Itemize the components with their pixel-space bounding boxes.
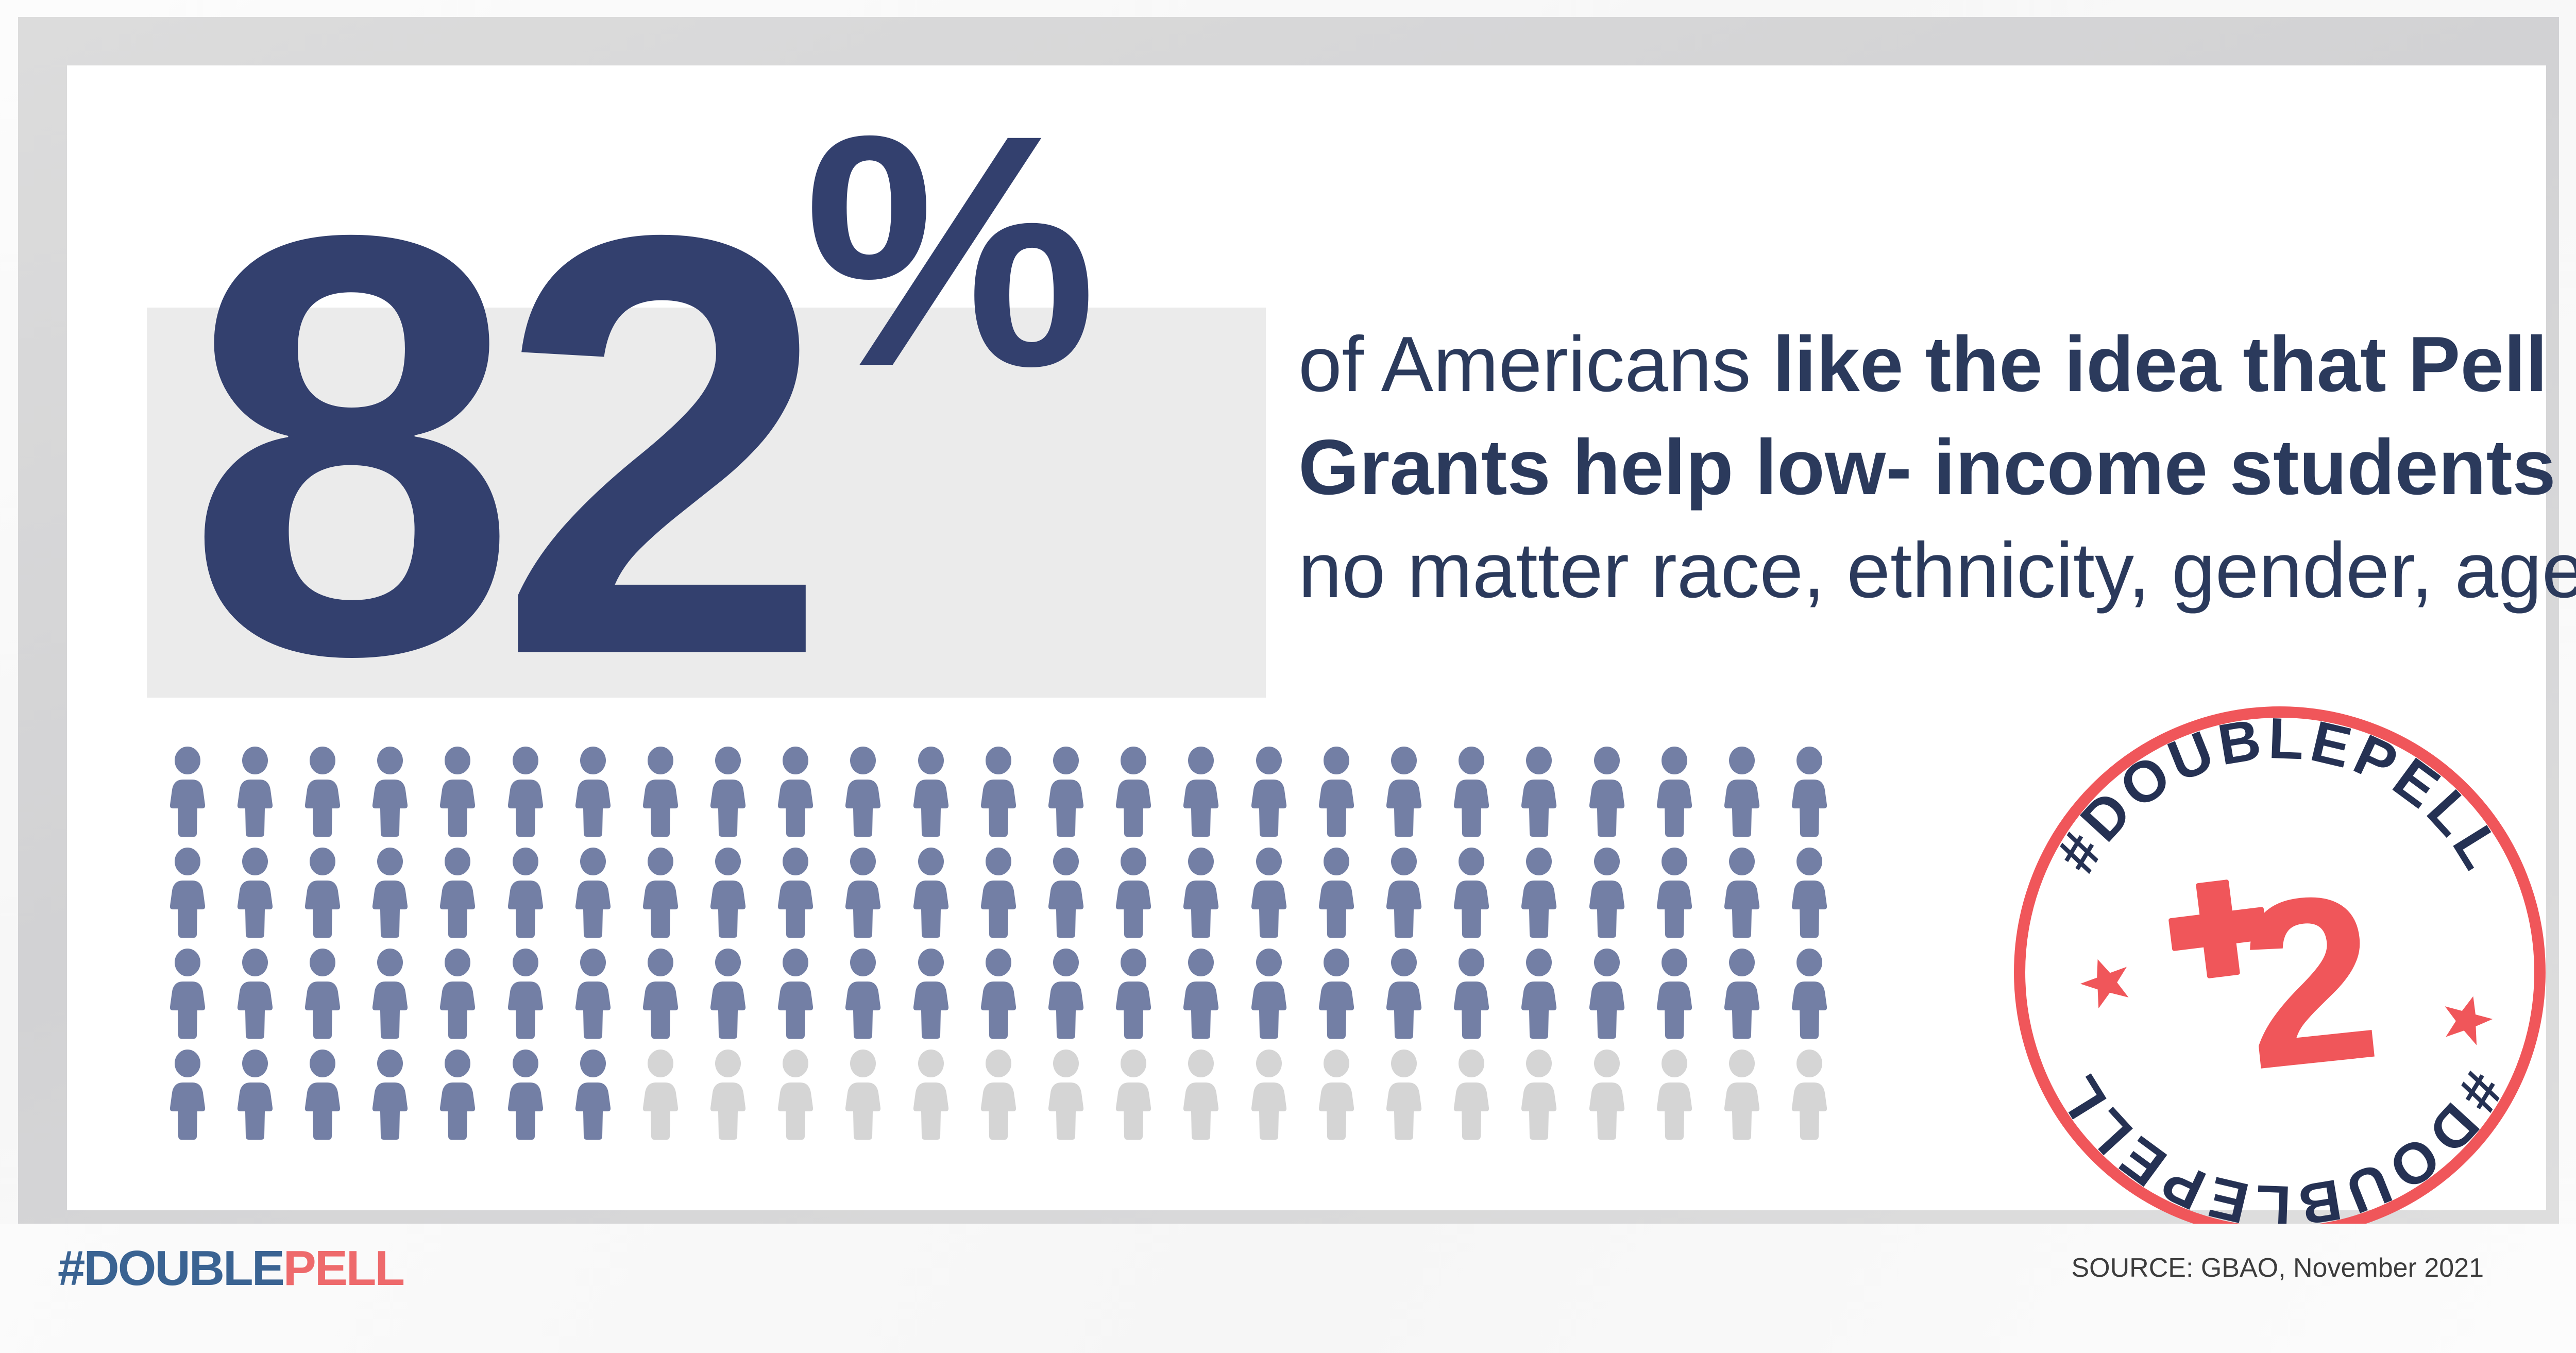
person-icon-empty — [762, 1047, 829, 1148]
person-icon — [1451, 747, 1492, 837]
poster-frame: 82% of Americans like the idea that Pell… — [18, 17, 2559, 1224]
person-icon — [234, 1050, 276, 1140]
person-icon — [707, 1050, 749, 1140]
person-icon — [978, 848, 1019, 938]
person-icon-filled — [424, 1047, 492, 1148]
headline-copy: of Americans like the idea that Pell Gra… — [1298, 313, 2499, 622]
person-icon-filled — [1776, 946, 1843, 1047]
person-icon — [234, 747, 276, 837]
person-icon-filled — [492, 1047, 559, 1148]
badge-star-left — [2074, 951, 2137, 1011]
person-icon-filled — [221, 845, 289, 946]
person-icon — [707, 747, 749, 837]
person-icon — [1180, 848, 1222, 938]
person-icon-filled — [1370, 845, 1437, 946]
person-icon — [234, 848, 276, 938]
person-icon — [842, 848, 884, 938]
person-icon — [167, 747, 208, 837]
person-icon-filled — [897, 946, 964, 1047]
person-icon-empty — [1167, 1047, 1235, 1148]
person-icon — [1721, 949, 1762, 1039]
person-icon — [369, 1050, 411, 1140]
person-icon — [572, 1050, 614, 1140]
person-icon-filled — [154, 1047, 221, 1148]
person-icon-filled — [357, 745, 424, 845]
person-icon-filled — [1708, 745, 1775, 845]
person-icon-filled — [289, 946, 356, 1047]
person-icon-filled — [289, 845, 356, 946]
person-icon-filled — [762, 745, 829, 845]
person-icon-empty — [1235, 1047, 1302, 1148]
person-icon — [842, 747, 884, 837]
person-icon — [1248, 848, 1290, 938]
person-icon-empty — [1776, 1047, 1843, 1148]
person-icon — [1518, 1050, 1560, 1140]
footer-logo-red: PELL — [283, 1241, 403, 1296]
person-icon-filled — [559, 745, 626, 845]
person-icon-filled — [1302, 845, 1370, 946]
person-icon-filled — [492, 946, 559, 1047]
person-icon — [1383, 848, 1425, 938]
person-icon — [369, 747, 411, 837]
person-icon-filled — [1100, 946, 1167, 1047]
person-icon — [1383, 949, 1425, 1039]
person-icon — [505, 747, 546, 837]
person-icon-filled — [897, 745, 964, 845]
person-icon — [978, 949, 1019, 1039]
person-icon-empty — [1302, 1047, 1370, 1148]
person-icon — [1113, 747, 1154, 837]
person-icon-filled — [1235, 946, 1302, 1047]
person-icon-filled — [1100, 845, 1167, 946]
person-icon — [1180, 949, 1222, 1039]
person-icon — [910, 747, 952, 837]
person-icon-filled — [1776, 845, 1843, 946]
person-icon-filled — [1370, 946, 1437, 1047]
person-icon-empty — [626, 1047, 694, 1148]
person-icon — [1316, 747, 1357, 837]
person-icon-filled — [154, 845, 221, 946]
person-icon — [167, 949, 208, 1039]
person-icon-filled — [1032, 946, 1099, 1047]
person-icon — [505, 848, 546, 938]
footer-bar: #DOUBLEPELL SOURCE: GBAO, November 2021 — [0, 1224, 2576, 1353]
person-icon — [505, 1050, 546, 1140]
person-icon-filled — [1573, 845, 1640, 946]
person-icon-filled — [221, 1047, 289, 1148]
person-icon-filled — [357, 946, 424, 1047]
person-icon — [1721, 747, 1762, 837]
person-icon — [167, 848, 208, 938]
person-icon-filled — [424, 845, 492, 946]
person-icon-filled — [897, 845, 964, 946]
person-icon — [775, 747, 816, 837]
person-icon — [1113, 1050, 1154, 1140]
person-icon — [910, 848, 952, 938]
person-icon — [1518, 747, 1560, 837]
person-icon-empty — [1505, 1047, 1573, 1148]
person-icon-empty — [694, 1047, 762, 1148]
person-icon-filled — [1640, 845, 1708, 946]
pictogram-row — [154, 845, 1849, 946]
person-icon-filled — [424, 745, 492, 845]
person-icon — [1789, 747, 1830, 837]
person-icon — [775, 1050, 816, 1140]
person-icon — [1518, 848, 1560, 938]
person-icon-empty — [897, 1047, 964, 1148]
person-icon — [1045, 1050, 1087, 1140]
person-icon-filled — [1100, 745, 1167, 845]
person-icon-filled — [694, 745, 762, 845]
person-icon — [1721, 1050, 1762, 1140]
percent-symbol: % — [804, 66, 1092, 435]
person-icon-filled — [1640, 946, 1708, 1047]
person-icon-empty — [1370, 1047, 1437, 1148]
person-icon-filled — [694, 946, 762, 1047]
statistic-number: 82 — [185, 111, 809, 779]
person-icon — [640, 949, 681, 1039]
person-icon-filled — [829, 845, 897, 946]
person-icon — [1586, 747, 1628, 837]
person-icon — [437, 747, 478, 837]
person-icon-filled — [964, 745, 1032, 845]
person-icon-filled — [1302, 946, 1370, 1047]
person-icon-filled — [492, 745, 559, 845]
person-icon-empty — [1100, 1047, 1167, 1148]
person-icon-filled — [559, 845, 626, 946]
person-icon-filled — [1438, 946, 1505, 1047]
person-icon — [1248, 747, 1290, 837]
person-icon-filled — [1438, 845, 1505, 946]
person-icon — [302, 1050, 343, 1140]
badge-numeral-two: 2 — [2230, 843, 2389, 1120]
person-icon — [1721, 848, 1762, 938]
person-icon — [775, 848, 816, 938]
footer-doublepell-logo[interactable]: #DOUBLEPELL — [58, 1240, 403, 1297]
person-icon — [1654, 949, 1695, 1039]
person-icon — [1045, 747, 1087, 837]
person-icon-filled — [626, 845, 694, 946]
person-icon — [1113, 949, 1154, 1039]
person-icon-filled — [964, 845, 1032, 946]
person-icon-filled — [1302, 745, 1370, 845]
person-icon — [572, 747, 614, 837]
person-icon — [167, 1050, 208, 1140]
person-icon-filled — [221, 946, 289, 1047]
person-icon-filled — [1505, 845, 1573, 946]
person-icon-empty — [1640, 1047, 1708, 1148]
person-icon-filled — [1708, 845, 1775, 946]
person-icon — [640, 747, 681, 837]
person-icon-filled — [1573, 745, 1640, 845]
copy-line-1-bold: like the idea that Pell — [1773, 320, 2548, 408]
person-icon — [1586, 949, 1628, 1039]
person-icon — [1113, 848, 1154, 938]
footer-logo-blue: #DOUBLE — [58, 1241, 283, 1296]
person-icon-filled — [1573, 946, 1640, 1047]
person-icon — [978, 1050, 1019, 1140]
person-icon-filled — [829, 745, 897, 845]
person-icon — [1451, 1050, 1492, 1140]
person-icon-filled — [221, 745, 289, 845]
person-icon-empty — [1438, 1047, 1505, 1148]
poster-card: 82% of Americans like the idea that Pell… — [67, 65, 2546, 1210]
person-icon-filled — [154, 946, 221, 1047]
person-icon-filled — [1167, 745, 1235, 845]
person-icon-filled — [357, 845, 424, 946]
person-icon-filled — [694, 845, 762, 946]
person-icon-filled — [154, 745, 221, 845]
person-icon — [1789, 949, 1830, 1039]
person-icon-filled — [1776, 745, 1843, 845]
person-icon — [234, 949, 276, 1039]
person-icon-empty — [829, 1047, 897, 1148]
person-icon — [640, 1050, 681, 1140]
person-icon-filled — [964, 946, 1032, 1047]
copy-line-2: Grants help low- income students — [1298, 416, 2499, 519]
person-icon — [369, 949, 411, 1039]
person-icon — [1654, 1050, 1695, 1140]
person-icon — [1789, 848, 1830, 938]
person-icon — [1518, 949, 1560, 1039]
person-icon-filled — [1235, 845, 1302, 946]
person-icon-filled — [357, 1047, 424, 1148]
badge-star-right — [2437, 990, 2497, 1047]
person-icon-filled — [829, 946, 897, 1047]
person-icon — [842, 1050, 884, 1140]
person-icon — [1383, 1050, 1425, 1140]
person-icon-filled — [1505, 946, 1573, 1047]
person-icon — [842, 949, 884, 1039]
person-icon — [775, 949, 816, 1039]
person-icon — [437, 949, 478, 1039]
source-note: SOURCE: GBAO, November 2021 — [2071, 1253, 2484, 1283]
person-icon — [1654, 747, 1695, 837]
person-icon — [1180, 1050, 1222, 1140]
pictogram-chart — [154, 745, 1849, 1162]
person-icon — [707, 949, 749, 1039]
person-icon — [640, 848, 681, 938]
person-icon — [1316, 848, 1357, 938]
person-icon — [1180, 747, 1222, 837]
person-icon — [572, 848, 614, 938]
pictogram-row — [154, 745, 1849, 845]
person-icon — [1316, 949, 1357, 1039]
person-icon — [1248, 949, 1290, 1039]
person-icon-filled — [1235, 745, 1302, 845]
person-icon — [1586, 1050, 1628, 1140]
person-icon-filled — [1167, 845, 1235, 946]
copy-line-1-regular: of Americans — [1298, 320, 1773, 408]
person-icon-filled — [559, 946, 626, 1047]
person-icon — [302, 949, 343, 1039]
person-icon — [1586, 848, 1628, 938]
person-icon — [1654, 848, 1695, 938]
person-icon-filled — [762, 845, 829, 946]
person-icon-filled — [289, 1047, 356, 1148]
copy-line-1: of Americans like the idea that Pell — [1298, 313, 2499, 416]
person-icon-filled — [559, 1047, 626, 1148]
person-icon — [1045, 949, 1087, 1039]
person-icon-empty — [1573, 1047, 1640, 1148]
person-icon-empty — [1708, 1047, 1775, 1148]
person-icon — [369, 848, 411, 938]
person-icon — [302, 747, 343, 837]
copy-line-3: no matter race, ethnicity, gender, age. — [1298, 519, 2499, 622]
person-icon — [1451, 949, 1492, 1039]
person-icon-filled — [1032, 745, 1099, 845]
person-icon — [910, 1050, 952, 1140]
person-icon — [707, 848, 749, 938]
person-icon — [1316, 1050, 1357, 1140]
person-icon-filled — [424, 946, 492, 1047]
person-icon-empty — [964, 1047, 1032, 1148]
person-icon — [1045, 848, 1087, 938]
person-icon-filled — [1438, 745, 1505, 845]
person-icon-filled — [1640, 745, 1708, 845]
doublepell-badge: #DOUBLEPELL #DOUBLEPELL — [2009, 702, 2550, 1243]
person-icon — [1248, 1050, 1290, 1140]
person-icon — [437, 848, 478, 938]
pictogram-row — [154, 1047, 1849, 1148]
person-icon — [437, 1050, 478, 1140]
person-icon-filled — [1370, 745, 1437, 845]
person-icon — [910, 949, 952, 1039]
person-icon-empty — [1032, 1047, 1099, 1148]
person-icon-filled — [289, 745, 356, 845]
person-icon — [505, 949, 546, 1039]
person-icon-filled — [1708, 946, 1775, 1047]
person-icon-filled — [1032, 845, 1099, 946]
person-icon-filled — [1505, 745, 1573, 845]
person-icon-filled — [762, 946, 829, 1047]
person-icon — [1383, 747, 1425, 837]
headline-statistic: 82% — [185, 81, 1097, 703]
person-icon-filled — [1167, 946, 1235, 1047]
person-icon-filled — [626, 946, 694, 1047]
pictogram-row — [154, 946, 1849, 1047]
person-icon — [1451, 848, 1492, 938]
person-icon — [302, 848, 343, 938]
person-icon-filled — [626, 745, 694, 845]
person-icon — [1789, 1050, 1830, 1140]
person-icon — [572, 949, 614, 1039]
person-icon-filled — [492, 845, 559, 946]
person-icon — [978, 747, 1019, 837]
infographic-page: 82% of Americans like the idea that Pell… — [0, 0, 2576, 1353]
